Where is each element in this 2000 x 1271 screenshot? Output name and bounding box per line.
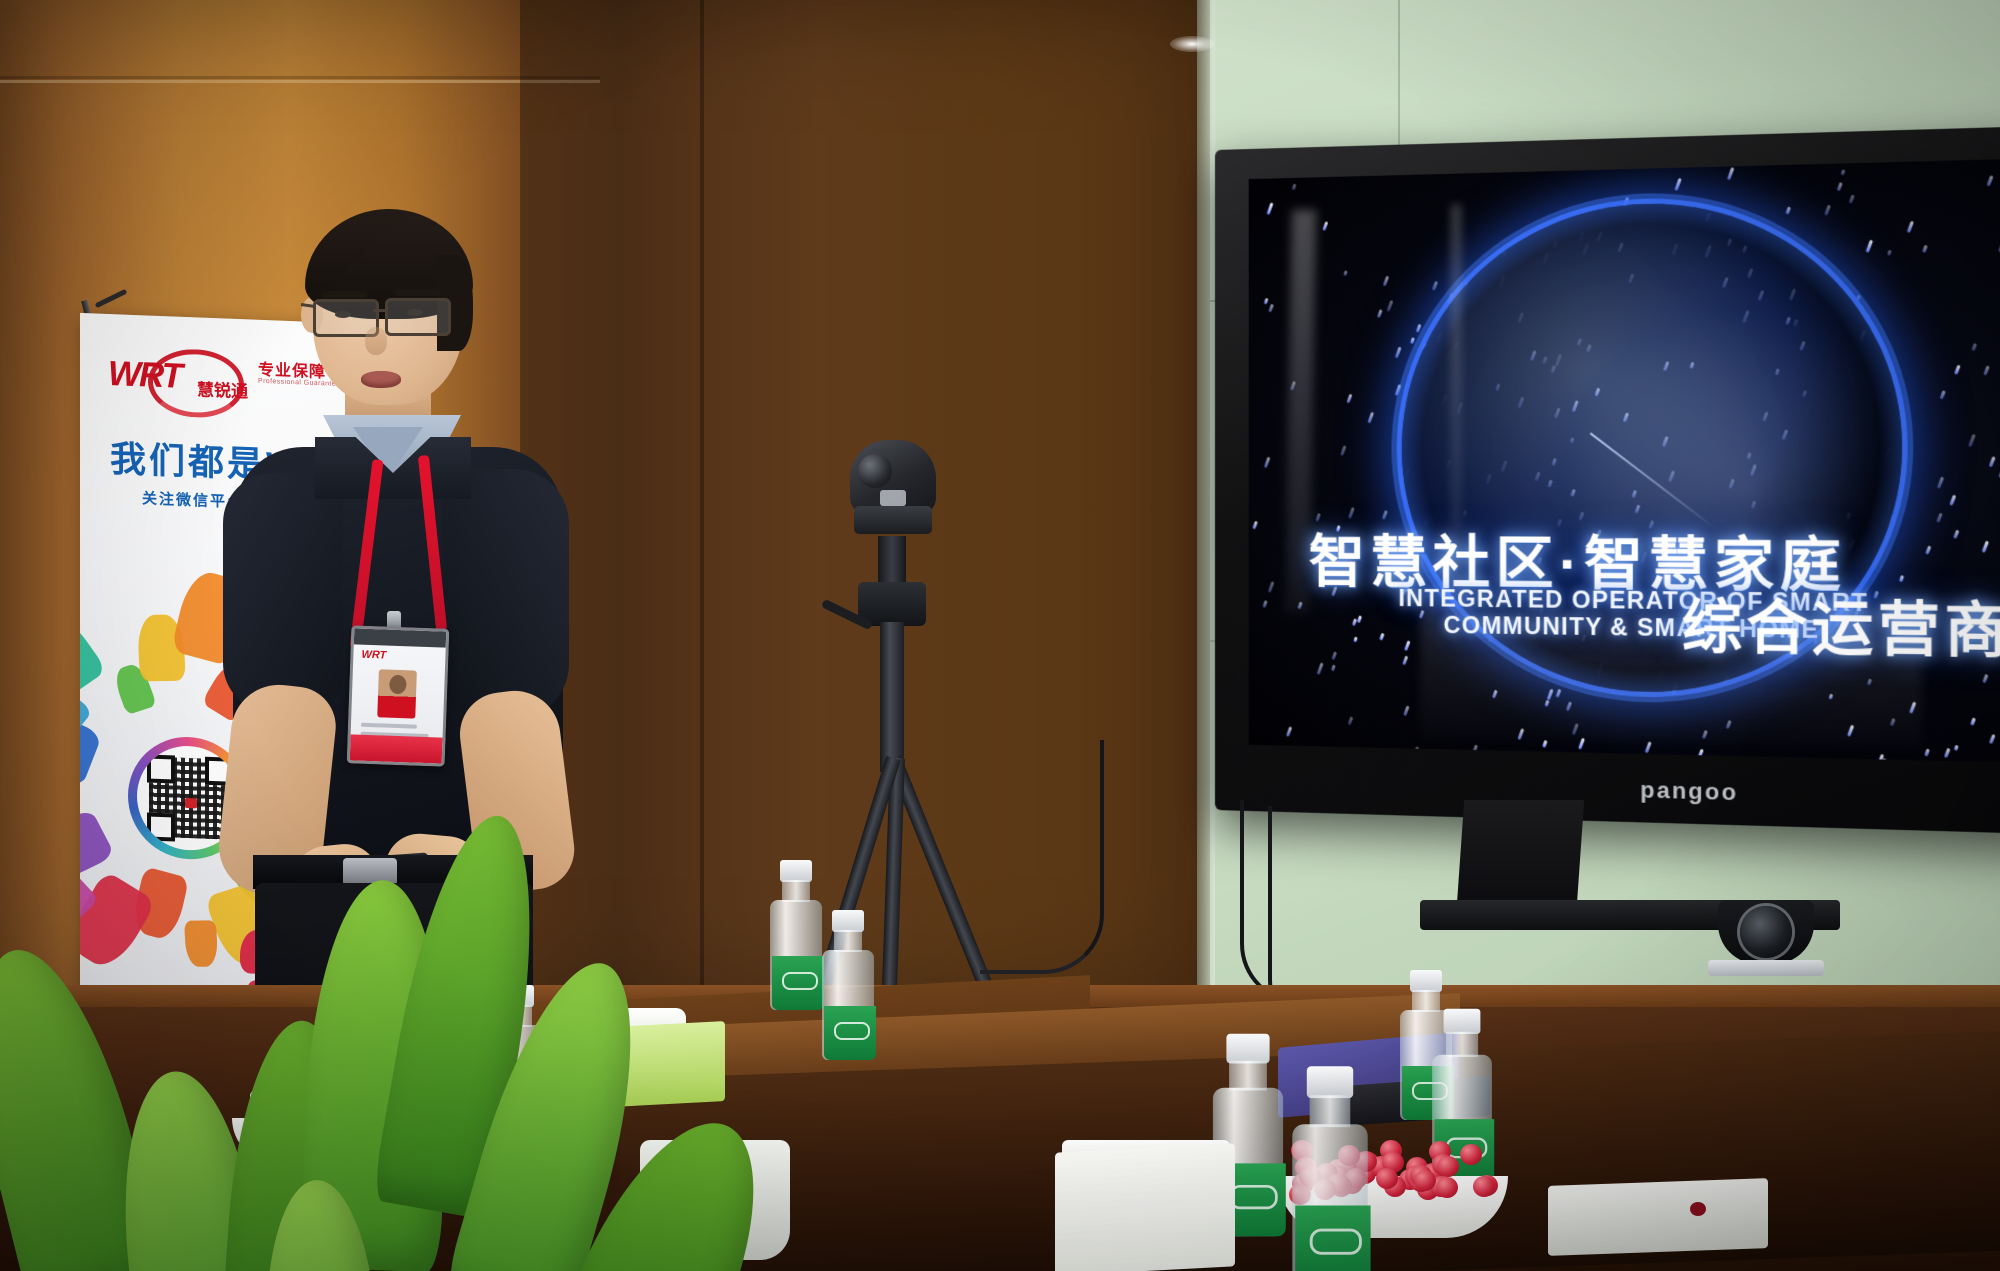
photo-scene: WRT 慧锐通 专业保障 恒久关注 Professional Guarantee… bbox=[0, 0, 2000, 1271]
water-bottle[interactable] bbox=[820, 910, 876, 1060]
bottle-neck bbox=[834, 930, 862, 952]
flat-panel-display[interactable]: 智慧社区·智慧家庭 INTEGRATED OPERATOR OF SMART C… bbox=[1215, 126, 2000, 835]
bottle-label bbox=[824, 1006, 876, 1060]
tripod-neck bbox=[878, 536, 906, 588]
eyebrow bbox=[321, 291, 367, 298]
bottle-neck bbox=[1446, 1032, 1478, 1057]
qr-center-logo bbox=[185, 798, 197, 808]
bottle-cap bbox=[1226, 1034, 1269, 1064]
camera-shelf bbox=[1708, 960, 1824, 976]
camera-lens-icon bbox=[1740, 906, 1792, 958]
serving-tray[interactable] bbox=[1548, 1178, 1768, 1256]
display-screen: 智慧社区·智慧家庭 INTEGRATED OPERATOR OF SMART C… bbox=[1249, 159, 2000, 763]
wall-ptz-camera bbox=[1718, 890, 1814, 976]
napkin-box[interactable] bbox=[1055, 1143, 1235, 1271]
sleeve-left bbox=[223, 473, 343, 713]
qr-eye-icon bbox=[147, 754, 175, 783]
badge-photo bbox=[377, 669, 417, 718]
nose bbox=[365, 327, 387, 355]
tripod-center-column bbox=[880, 622, 904, 772]
bottle-body bbox=[770, 900, 822, 1010]
foreground-plant bbox=[0, 820, 730, 1271]
grape bbox=[1414, 1170, 1436, 1191]
bottle-cap bbox=[1444, 1009, 1481, 1034]
camera-lens-icon bbox=[858, 454, 892, 488]
glasses-bridge bbox=[373, 309, 387, 312]
wall-seam bbox=[0, 76, 600, 79]
brand-mark-text: WRT bbox=[108, 354, 181, 397]
grape bbox=[1460, 1144, 1482, 1165]
camera-base bbox=[854, 506, 932, 534]
camera-indicator bbox=[880, 490, 906, 506]
bottle-neck bbox=[1229, 1061, 1267, 1091]
sleeve-right bbox=[443, 469, 569, 719]
eyeglasses bbox=[311, 299, 463, 333]
id-badge: WRT bbox=[347, 625, 450, 766]
slide-title-cn-secondary: 综合运营商 bbox=[1682, 580, 2000, 669]
display-brand-label: pangoo bbox=[1640, 777, 1738, 807]
wall-seam bbox=[0, 80, 600, 83]
mouth bbox=[361, 371, 401, 388]
badge-footer bbox=[350, 734, 443, 763]
screen-reflection bbox=[1451, 204, 1461, 643]
water-bottle[interactable] bbox=[768, 860, 824, 1010]
ceiling-light bbox=[1170, 36, 1214, 52]
handprint-icon bbox=[80, 607, 107, 700]
grape bbox=[1436, 1177, 1458, 1198]
tray-item bbox=[1690, 1202, 1706, 1216]
grape bbox=[1437, 1156, 1459, 1177]
bottle-cap bbox=[1307, 1066, 1353, 1098]
cable bbox=[980, 740, 1104, 974]
badge-logo: WRT bbox=[361, 649, 386, 662]
grape bbox=[1473, 1176, 1495, 1197]
bottle-cap bbox=[780, 860, 812, 882]
bottle-body bbox=[1292, 1124, 1367, 1271]
bottle-label bbox=[772, 956, 824, 1010]
grape bbox=[1376, 1168, 1398, 1189]
bottle-body bbox=[822, 950, 874, 1060]
bottle-label bbox=[1295, 1205, 1370, 1271]
water-bottle[interactable] bbox=[1289, 1066, 1370, 1271]
bottle-cap bbox=[1410, 970, 1442, 992]
badge-header bbox=[354, 628, 447, 647]
bottle-neck bbox=[782, 880, 810, 902]
bottle-cap bbox=[832, 910, 864, 932]
bottle-neck bbox=[1310, 1095, 1351, 1127]
eyebrow bbox=[395, 289, 441, 296]
wall-corner-edge bbox=[1197, 0, 1215, 1080]
ptz-camera bbox=[850, 440, 936, 540]
lens-right bbox=[385, 298, 451, 336]
